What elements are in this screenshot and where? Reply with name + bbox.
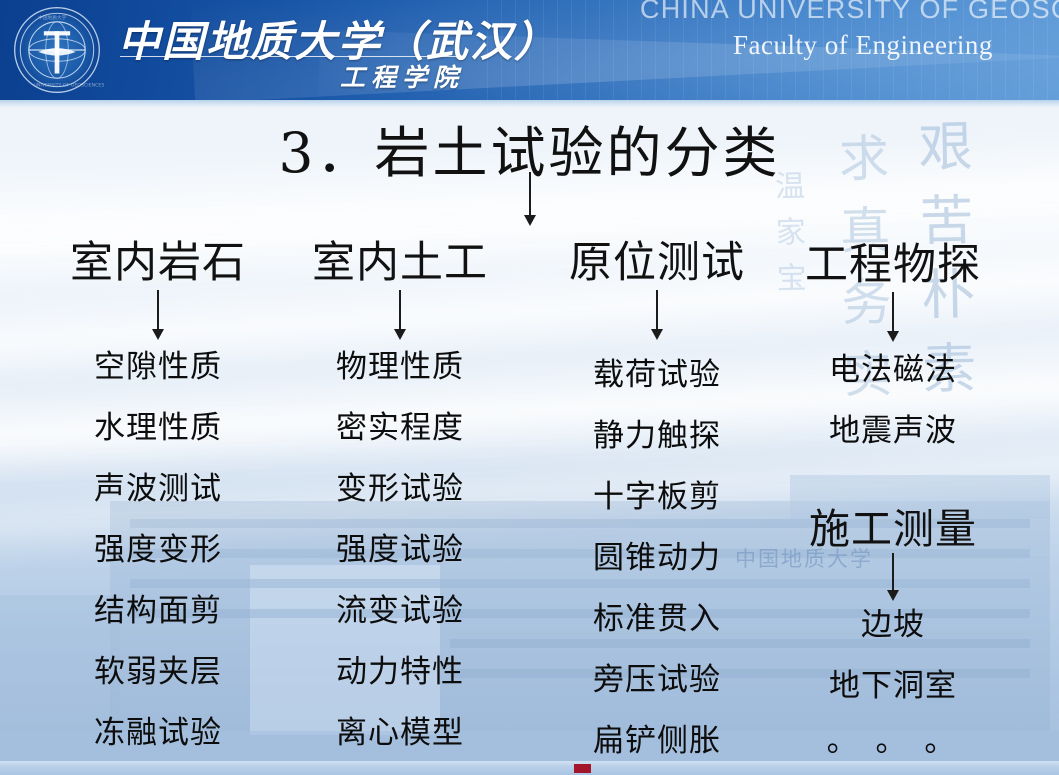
university-seal-icon: 中国地质大学 UNIVERSITY OF GEOSCIENCES — [10, 3, 104, 97]
list-item: 强度变形 — [38, 520, 278, 581]
list-item: 电法磁法 — [773, 340, 1013, 401]
column-heading-3: 原位测试 — [537, 228, 777, 290]
column-4-subsection-items: 边坡 地下洞室 — [773, 595, 1013, 717]
column-heading-4: 工程物探 — [773, 230, 1013, 292]
list-item: 流变试验 — [280, 581, 520, 642]
list-item: 冻融试验 — [38, 703, 278, 764]
list-item: 密实程度 — [280, 398, 520, 459]
header-english-title: CHINA UNIVERSITY OF GEOSCIENCES — [640, 0, 1059, 25]
list-item: 空隙性质 — [38, 337, 278, 398]
list-item: 标准贯入 — [537, 589, 777, 650]
list-item: 水理性质 — [38, 398, 278, 459]
column-items-2: 物理性质 密实程度 变形试验 强度试验 流变试验 动力特性 离心模型 — [280, 337, 520, 764]
list-item: 旁压试验 — [537, 650, 777, 711]
column-items-3: 载荷试验 静力触探 十字板剪 圆锥动力 标准贯入 旁压试验 扁铲侧胀 — [537, 345, 777, 772]
arrow-down-icon-column-3 — [650, 290, 664, 340]
column-items-1: 空隙性质 水理性质 声波测试 强度变形 结构面剪 软弱夹层 冻融试验 — [38, 337, 278, 764]
arrow-down-icon-column-1 — [151, 290, 165, 340]
column-heading-2: 室内土工 — [280, 228, 520, 290]
column-4-subsection-heading: 施工测量 — [773, 495, 1013, 555]
arrow-down-icon-column-2 — [393, 290, 407, 340]
svg-text:UNIVERSITY OF GEOSCIENCES: UNIVERSITY OF GEOSCIENCES — [34, 83, 105, 89]
list-item: 动力特性 — [280, 642, 520, 703]
list-item: 地震声波 — [773, 401, 1013, 462]
header-divider — [120, 56, 460, 57]
column-heading-1: 室内岩石 — [38, 228, 278, 290]
list-item: 静力触探 — [537, 406, 777, 467]
arrow-down-icon-title — [523, 172, 537, 226]
list-item: 软弱夹层 — [38, 642, 278, 703]
list-item: 变形试验 — [280, 459, 520, 520]
arrow-down-icon-column-4 — [886, 292, 900, 342]
slide-footer-strip — [0, 761, 1059, 775]
list-item: 载荷试验 — [537, 345, 777, 406]
list-item: 边坡 — [773, 595, 1013, 656]
list-item: 结构面剪 — [38, 581, 278, 642]
list-item: 离心模型 — [280, 703, 520, 764]
list-item: 强度试验 — [280, 520, 520, 581]
header-chinese-subtitle: 工程学院 — [340, 58, 464, 94]
arrow-down-icon-subsection — [886, 553, 900, 601]
presentation-slide: 中国地质大学 艰苦朴素 求真务实 温家宝 中国地质大学 UNIVERSITY O… — [0, 0, 1059, 775]
header-english-subtitle: Faculty of Engineering — [733, 30, 993, 61]
list-item: 声波测试 — [38, 459, 278, 520]
slide-progress-marker — [574, 764, 591, 773]
header-underline — [0, 100, 1059, 107]
column-items-4: 电法磁法 地震声波 — [773, 340, 1013, 462]
column-4-ellipsis: 。 。 。 — [773, 715, 1013, 760]
list-item: 物理性质 — [280, 337, 520, 398]
list-item: 圆锥动力 — [537, 528, 777, 589]
header-chinese-title: 中国地质大学（武汉） — [118, 8, 558, 69]
list-item: 地下洞室 — [773, 656, 1013, 717]
list-item: 十字板剪 — [537, 467, 777, 528]
